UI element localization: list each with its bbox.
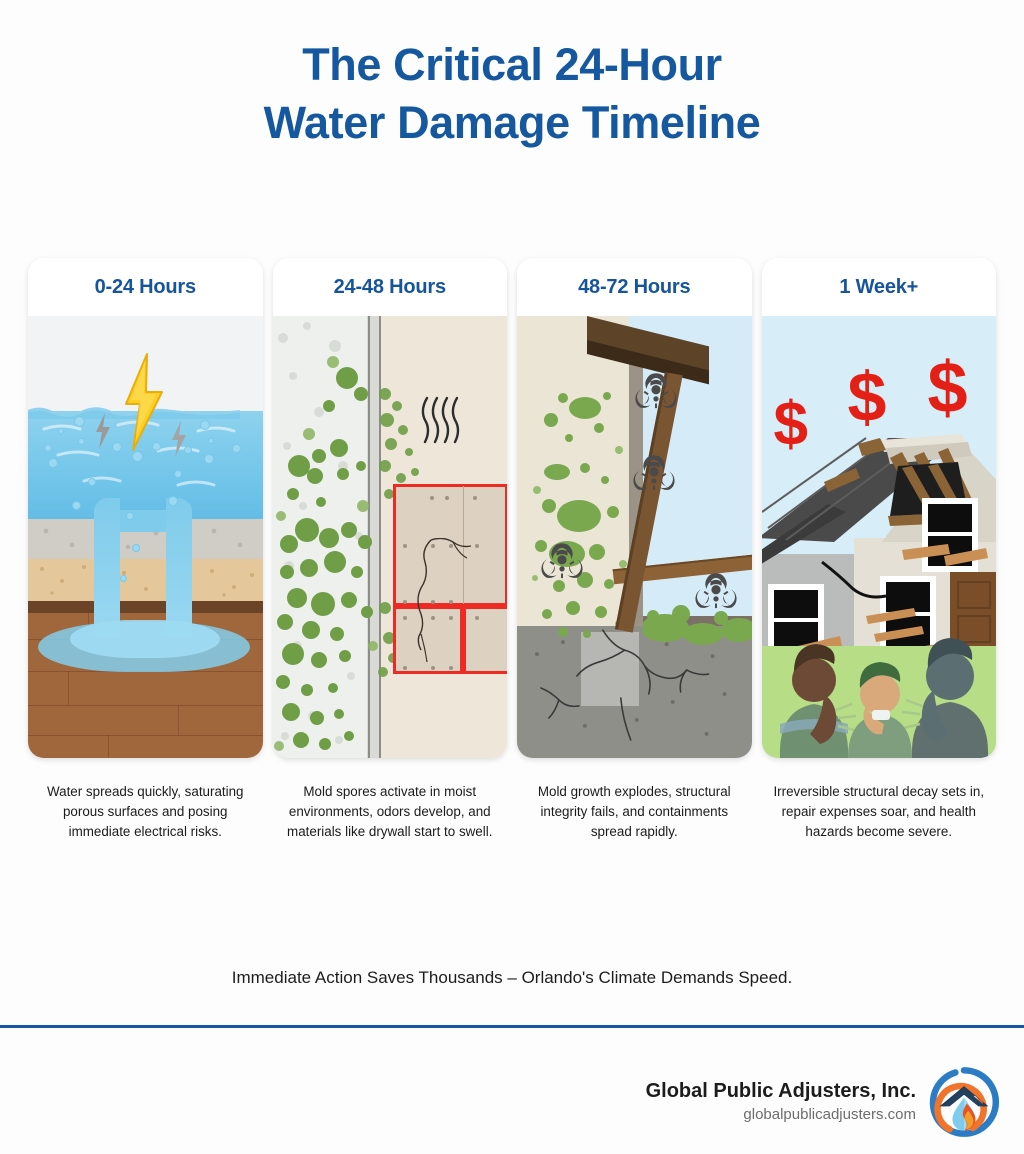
bubble (168, 496, 178, 506)
card-header-24-48-hours: 24-48 Hours (273, 258, 508, 316)
dollar-sign-icon: $ (928, 352, 968, 424)
bubble (58, 428, 64, 434)
infographic-page: The Critical 24-Hour Water Damage Timeli… (0, 0, 1024, 1154)
caption-0-24-hours: Water spreads quickly, saturating porous… (28, 782, 263, 842)
card-header-label: 48-72 Hours (578, 276, 690, 299)
bubble (200, 420, 210, 430)
bubble (72, 501, 81, 510)
dollar-sign-icon: $ (848, 362, 887, 432)
water-fall-right (166, 498, 192, 638)
card-header-48-72-hours: 48-72 Hours (517, 258, 752, 316)
timeline-card-1-week-plus[interactable]: 1 Week+ (762, 258, 997, 758)
floor-puddle-highlight (70, 620, 220, 658)
destroyed-house-illustration: $ $ $ (762, 316, 997, 758)
drywall-crack (391, 538, 501, 678)
card-header-1-week-plus: 1 Week+ (762, 258, 997, 316)
bubble (208, 438, 214, 444)
bubble (132, 451, 143, 462)
title-line-2: Water Damage Timeline (0, 94, 1024, 152)
lightning-bolt-small-icon (170, 420, 188, 458)
subfloor-band (28, 601, 263, 613)
bubble (120, 575, 127, 582)
card-header-0-24-hours: 0-24 Hours (28, 258, 263, 316)
bubble (126, 512, 134, 520)
water-fall-left (94, 498, 120, 638)
caption-1-week-plus: Irreversible structural decay sets in, r… (762, 782, 997, 842)
timeline-card-24-48-hours[interactable]: 24-48 Hours (273, 258, 508, 758)
bubble (48, 458, 58, 468)
biohazard-icon (635, 372, 677, 414)
card-header-label: 0-24 Hours (95, 276, 196, 299)
sand-layer (28, 559, 263, 601)
structural-failure-illustration (517, 316, 752, 758)
bubble (132, 544, 140, 552)
bubble (88, 478, 96, 486)
timeline-card-48-72-hours[interactable]: 48-72 Hours (517, 258, 752, 758)
biohazard-icon (695, 572, 737, 614)
global-public-adjusters-logo (928, 1066, 1000, 1138)
footer: Global Public Adjusters, Inc. globalpubl… (0, 1052, 1024, 1152)
biohazard-icon (541, 542, 583, 584)
caption-24-48-hours: Mold spores activate in moist environmen… (273, 782, 508, 842)
lightning-bolt-icon (120, 352, 168, 452)
bubble (204, 454, 214, 464)
page-title: The Critical 24-Hour Water Damage Timeli… (0, 36, 1024, 152)
brand-url[interactable]: globalpublicadjusters.com (646, 1104, 916, 1126)
bubble (174, 470, 182, 478)
person-left (779, 644, 855, 758)
bubble (232, 444, 241, 453)
bubble (78, 438, 85, 445)
brand-name: Global Public Adjusters, Inc. (646, 1078, 916, 1104)
person-right (902, 638, 988, 758)
biohazard-icon (633, 454, 675, 496)
family-silhouette-icon (762, 598, 997, 758)
bubble (74, 416, 85, 427)
bubble (44, 444, 52, 452)
brand-text: Global Public Adjusters, Inc. globalpubl… (646, 1078, 916, 1126)
title-line-1: The Critical 24-Hour (0, 36, 1024, 94)
card-header-label: 1 Week+ (839, 276, 918, 299)
mold-on-drywall-illustration (273, 316, 508, 758)
flooded-floor-illustration (28, 316, 263, 758)
timeline-cards: 0-24 Hours (28, 258, 996, 763)
lightning-bolt-small-icon (94, 412, 112, 450)
timeline-card-0-24-hours[interactable]: 0-24 Hours (28, 258, 263, 758)
person-child (848, 662, 912, 758)
tagline: Immediate Action Saves Thousands – Orlan… (0, 968, 1024, 988)
card-captions: Water spreads quickly, saturating porous… (28, 782, 996, 842)
footer-divider (0, 1025, 1024, 1028)
odor-waves-icon (421, 394, 463, 446)
dollar-sign-icon: $ (774, 394, 808, 456)
caption-48-72-hours: Mold growth explodes, structural integri… (517, 782, 752, 842)
card-header-label: 24-48 Hours (334, 276, 446, 299)
